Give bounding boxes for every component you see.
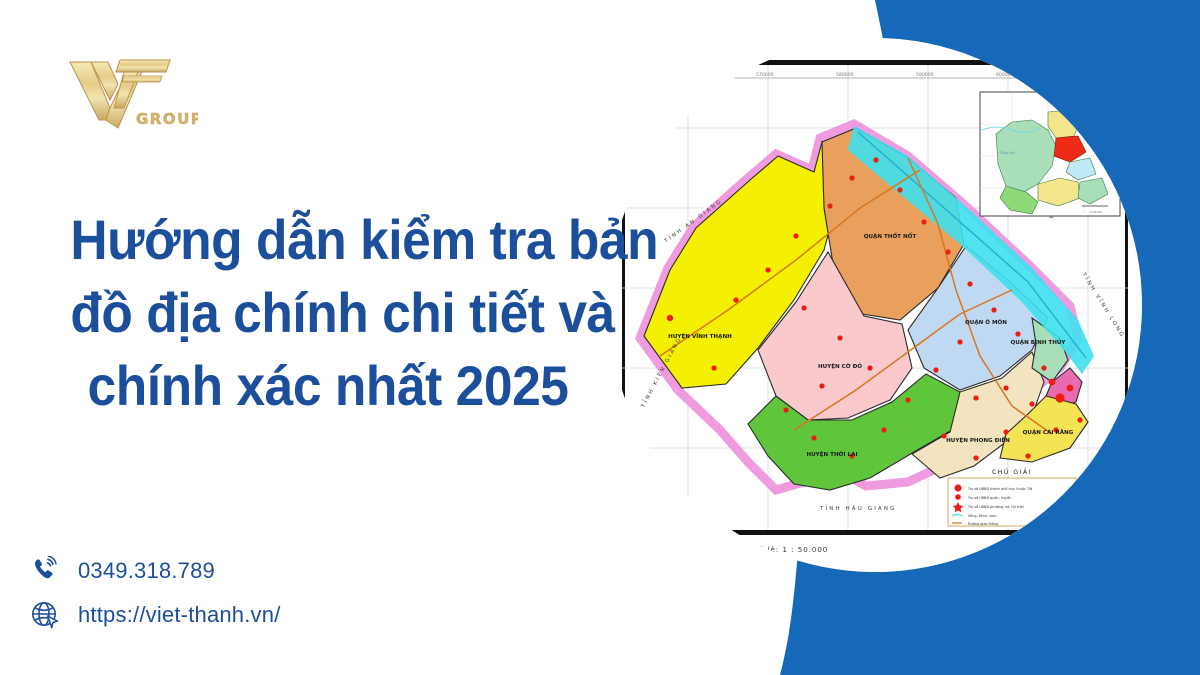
svg-text:Sông, kênh, rạch: Sông, kênh, rạch	[968, 514, 997, 518]
svg-text:Trụ sở UBND quận, huyện: Trụ sở UBND quận, huyện	[967, 496, 1011, 500]
svg-text:Trụ sở UBND thành phố trực thu: Trụ sở UBND thành phố trực thuộc TW	[967, 487, 1033, 491]
phone-number: 0349.318.789	[78, 558, 215, 584]
svg-text:HUYỆN CỜ ĐỎ: HUYỆN CỜ ĐỎ	[818, 362, 862, 370]
logo-group-text: GROUP	[136, 110, 198, 128]
vt-group-logo: GROUP	[58, 48, 198, 140]
svg-text:TỈNH HẬU GIANG: TỈNH HẬU GIANG	[819, 504, 897, 512]
website-url: https://viet-thanh.vn/	[78, 602, 281, 628]
svg-text:Đường giao thông: Đường giao thông	[968, 522, 998, 526]
svg-text:Trụ sở UBND phường, xã, thị tr: Trụ sở UBND phường, xã, thị trấn	[967, 505, 1024, 509]
svg-text:580000: 580000	[836, 72, 854, 78]
contact-block: 0349.318.789 https://viet-thanh.vn/	[28, 549, 281, 637]
svg-text:HUYỆN THỚI LAI: HUYỆN THỚI LAI	[806, 450, 857, 458]
title-line-3: chính xác nhất 2025	[70, 349, 585, 422]
title-line-1: Hướng dẫn kiểm tra bản	[70, 203, 585, 276]
svg-text:CHÚ GIẢI: CHÚ GIẢI	[992, 468, 1032, 476]
contact-website-row[interactable]: https://viet-thanh.vn/	[28, 593, 281, 637]
svg-text:590000: 590000	[916, 72, 934, 78]
thumbnail-canvas: 560000 570000 580000 590000 600000	[0, 0, 1200, 675]
svg-text:QUẬN THỐT NỐT: QUẬN THỐT NỐT	[864, 232, 917, 240]
contact-phone-row[interactable]: 0349.318.789	[28, 549, 281, 593]
phone-ringing-icon	[28, 554, 62, 588]
svg-text:Sông Hậu: Sông Hậu	[1000, 151, 1015, 155]
svg-text:600000: 600000	[996, 72, 1014, 78]
svg-text:570000: 570000	[756, 72, 774, 78]
svg-text:Tỷ lệ: 1 : 50.000: Tỷ lệ: 1 : 50.000	[753, 545, 828, 554]
svg-text:0 20 km: 0 20 km	[1090, 210, 1102, 214]
svg-text:QUẬN CÁI RĂNG: QUẬN CÁI RĂNG	[1023, 429, 1074, 436]
globe-cursor-icon	[28, 598, 62, 632]
title-line-2: đồ địa chính chi tiết và	[70, 276, 585, 349]
svg-text:QUẬN Ô MÔN: QUẬN Ô MÔN	[965, 319, 1007, 326]
map-image: 560000 570000 580000 590000 600000	[608, 38, 1142, 572]
svg-text:QUẬN BÌNH THỦY: QUẬN BÌNH THỦY	[1010, 338, 1066, 346]
page-title: Hướng dẫn kiểm tra bản đồ địa chính chi …	[48, 203, 608, 422]
svg-text:560000: 560000	[676, 72, 694, 78]
